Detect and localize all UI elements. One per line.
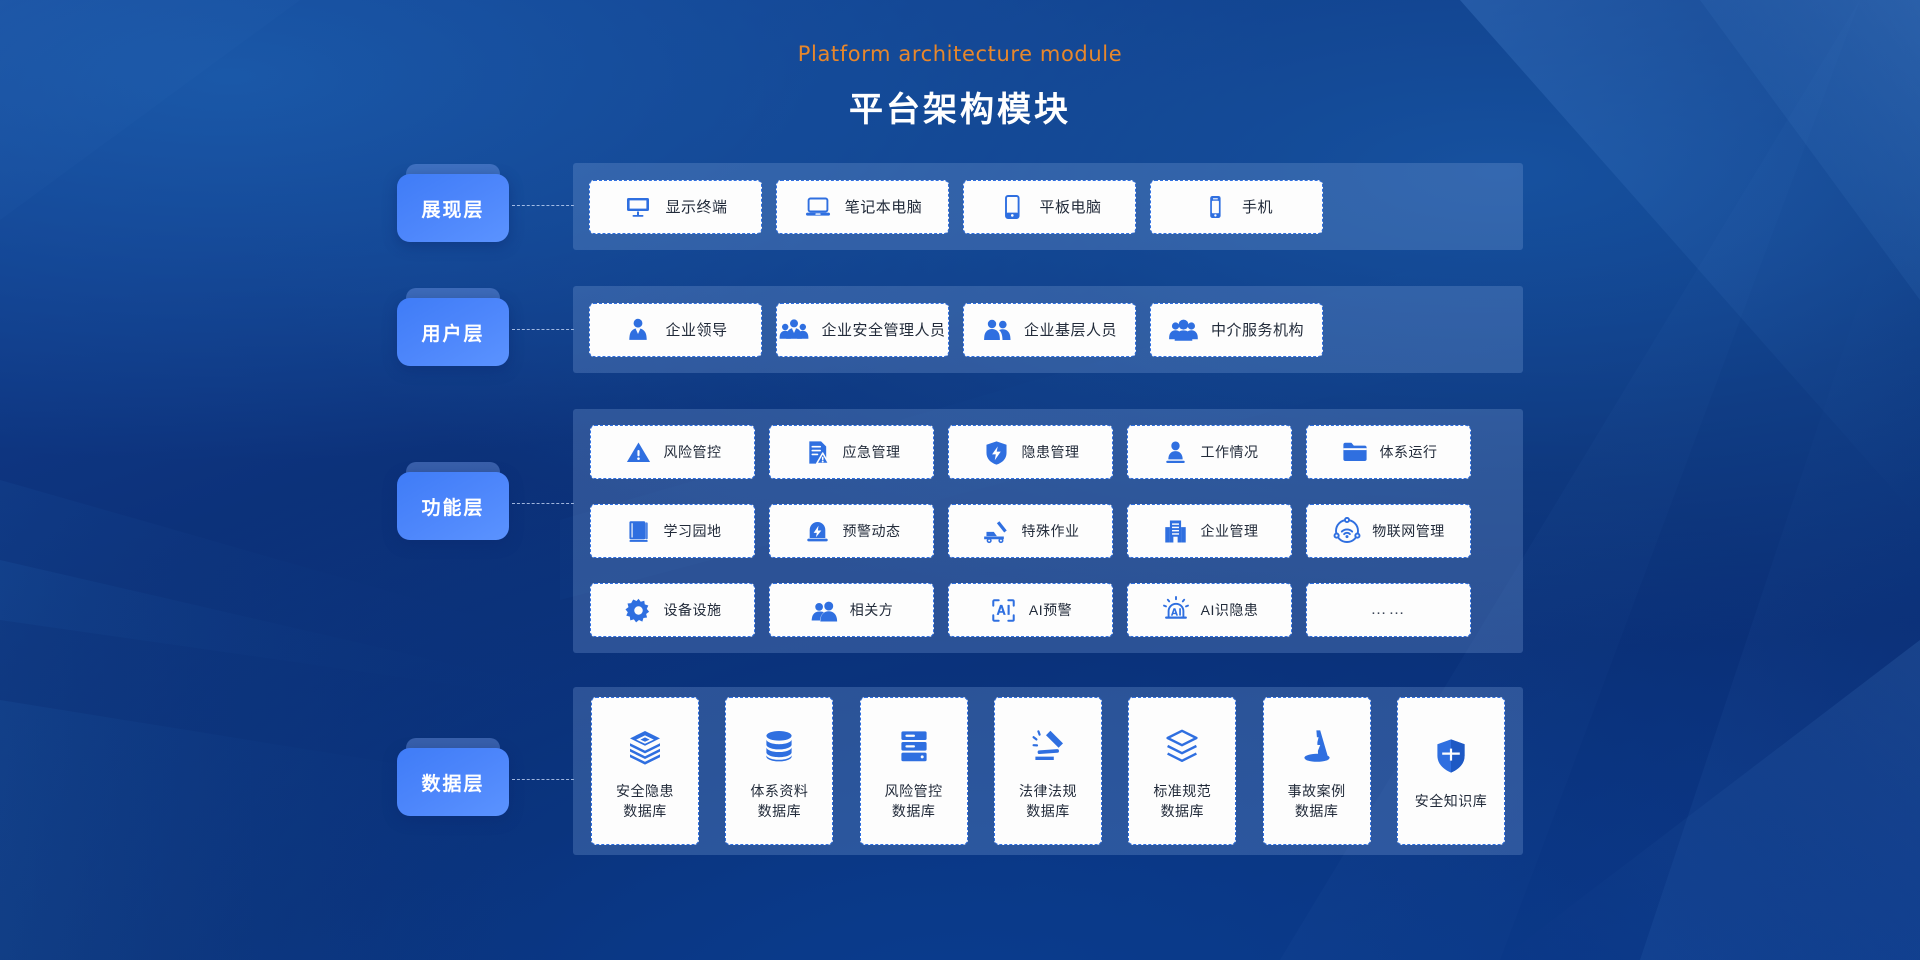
architecture-diagram: 展现层 显示终端 — [0, 0, 1920, 960]
badge-body: 功能层 — [397, 472, 509, 540]
layer-badge-presentation[interactable]: 展现层 — [397, 164, 509, 242]
card-db-laws[interactable]: 法律法规 数据库 — [994, 697, 1102, 845]
card-label: AI预警 — [1029, 600, 1072, 620]
iot-wifi-icon — [1332, 516, 1362, 546]
card-label: 平板电脑 — [1039, 196, 1101, 217]
card-label: 特殊作业 — [1022, 521, 1080, 541]
panel-presentation: 显示终端 笔记本电脑 — [573, 163, 1523, 250]
folder-icon — [1340, 437, 1370, 467]
card-label: 安全隐患 数据库 — [616, 781, 674, 822]
layer-badge-function[interactable]: 功能层 — [397, 462, 509, 540]
traffic-cone-icon — [1296, 725, 1338, 767]
panel-function: 风险管控 应急管理 — [573, 409, 1523, 653]
card-label: 事故案例 数据库 — [1288, 781, 1346, 822]
card-special-operation[interactable]: 特殊作业 — [948, 504, 1113, 558]
crane-truck-icon — [982, 516, 1012, 546]
card-label: 设备设施 — [664, 600, 722, 620]
layer-badge-label: 数据层 — [421, 769, 484, 796]
page-header: Platform architecture module 平台架构模块 — [0, 42, 1920, 131]
card-label: AI识隐患 — [1201, 600, 1259, 620]
warning-triangle-icon — [624, 437, 654, 467]
layer-badge-user[interactable]: 用户层 — [397, 288, 509, 366]
card-related-parties[interactable]: 相关方 — [769, 583, 934, 637]
layer-badge-data[interactable]: 数据层 — [397, 738, 509, 816]
monitor-icon — [623, 192, 653, 222]
stack-layers-icon — [624, 725, 666, 767]
book-icon — [624, 516, 654, 546]
card-label: 企业安全管理人员 — [821, 319, 945, 340]
card-label: 工作情况 — [1201, 442, 1259, 462]
building-icon — [1161, 516, 1191, 546]
card-mobile[interactable]: 手机 — [1150, 180, 1323, 234]
card-enterprise-leader[interactable]: 企业领导 — [589, 303, 762, 357]
laptop-icon — [803, 192, 833, 222]
gear-icon — [624, 595, 654, 625]
card-label: 应急管理 — [843, 442, 901, 462]
card-db-hazard[interactable]: 安全隐患 数据库 — [591, 697, 699, 845]
ai-scan-icon — [989, 595, 1019, 625]
card-risk-control[interactable]: 风险管控 — [590, 425, 755, 479]
person-desk-icon — [1161, 437, 1191, 467]
card-db-accident-cases[interactable]: 事故案例 数据库 — [1263, 697, 1371, 845]
layers-icon — [1161, 725, 1203, 767]
card-db-risk-control[interactable]: 风险管控 数据库 — [860, 697, 968, 845]
card-label: 企业领导 — [665, 319, 727, 340]
emergency-doc-icon — [803, 437, 833, 467]
panel-user: 企业领导 企业安全管理人员 — [573, 286, 1523, 373]
phone-icon — [1200, 192, 1230, 222]
badge-body: 数据层 — [397, 748, 509, 816]
card-frontline-staff[interactable]: 企业基层人员 — [963, 303, 1136, 357]
card-safety-manager[interactable]: 企业安全管理人员 — [776, 303, 949, 357]
ellipsis-icon: …… — [1371, 601, 1407, 619]
card-label: 体系资料 数据库 — [750, 781, 808, 822]
card-db-system-docs[interactable]: 体系资料 数据库 — [725, 697, 833, 845]
card-agency[interactable]: 中介服务机构 — [1150, 303, 1323, 357]
card-learning-garden[interactable]: 学习园地 — [590, 504, 755, 558]
subtitle-en: Platform architecture module — [0, 42, 1920, 66]
card-label: 标准规范 数据库 — [1153, 781, 1211, 822]
card-system-operation[interactable]: 体系运行 — [1306, 425, 1471, 479]
card-alert-dynamics[interactable]: 预警动态 — [769, 504, 934, 558]
alarm-lamp-icon — [803, 516, 833, 546]
tablet-icon — [997, 192, 1027, 222]
shield-bolt-icon — [982, 437, 1012, 467]
connector-presentation — [512, 205, 574, 206]
badge-body: 用户层 — [397, 298, 509, 366]
card-db-standards[interactable]: 标准规范 数据库 — [1128, 697, 1236, 845]
card-laptop[interactable]: 笔记本电脑 — [776, 180, 949, 234]
card-label: 体系运行 — [1380, 442, 1438, 462]
layer-badge-label: 展现层 — [421, 195, 484, 222]
panel-data: 安全隐患 数据库 体系资料 数据库 — [573, 687, 1523, 855]
card-label: 隐患管理 — [1022, 442, 1080, 462]
card-tablet[interactable]: 平板电脑 — [963, 180, 1136, 234]
card-label: 学习园地 — [664, 521, 722, 541]
badge-body: 展现层 — [397, 174, 509, 242]
executive-icon — [623, 315, 653, 345]
card-label: 显示终端 — [665, 196, 727, 217]
card-more[interactable]: …… — [1306, 583, 1471, 637]
card-emergency-mgmt[interactable]: 应急管理 — [769, 425, 934, 479]
server-icon — [893, 725, 935, 767]
card-work-status[interactable]: 工作情况 — [1127, 425, 1292, 479]
card-label: 手机 — [1242, 196, 1273, 217]
card-label: 笔记本电脑 — [845, 196, 923, 217]
connector-function — [512, 503, 574, 504]
card-label: 中介服务机构 — [1211, 319, 1304, 340]
card-label: 企业管理 — [1201, 521, 1259, 541]
card-label: 相关方 — [850, 600, 894, 620]
layer-badge-label: 功能层 — [421, 493, 484, 520]
gavel-icon — [1027, 725, 1069, 767]
staff-icon — [982, 315, 1012, 345]
page-title: 平台架构模块 — [0, 82, 1920, 131]
connector-user — [512, 329, 574, 330]
card-label: 企业基层人员 — [1024, 319, 1117, 340]
card-enterprise-mgmt[interactable]: 企业管理 — [1127, 504, 1292, 558]
shield-icon — [1430, 735, 1472, 777]
card-iot-mgmt[interactable]: 物联网管理 — [1306, 504, 1471, 558]
card-label: 风险管控 数据库 — [885, 781, 943, 822]
ai-lamp-icon — [1161, 595, 1191, 625]
agency-icon — [1169, 315, 1199, 345]
card-label: 风险管控 — [664, 442, 722, 462]
card-ai-alert[interactable]: AI预警 — [948, 583, 1113, 637]
card-label: 预警动态 — [843, 521, 901, 541]
card-label: 法律法规 数据库 — [1019, 781, 1077, 822]
card-ai-hazard-detect[interactable]: AI识隐患 — [1127, 583, 1292, 637]
card-display-terminal[interactable]: 显示终端 — [589, 180, 762, 234]
database-icon — [758, 725, 800, 767]
connector-data — [512, 779, 574, 780]
safety-team-icon — [779, 315, 809, 345]
card-hazard-mgmt[interactable]: 隐患管理 — [948, 425, 1113, 479]
card-equipment-facility[interactable]: 设备设施 — [590, 583, 755, 637]
card-label: 物联网管理 — [1372, 521, 1445, 541]
layer-badge-label: 用户层 — [421, 319, 484, 346]
card-label: 安全知识库 — [1415, 791, 1488, 811]
people-icon — [810, 595, 840, 625]
card-db-safety-knowledge[interactable]: 安全知识库 — [1397, 697, 1505, 845]
